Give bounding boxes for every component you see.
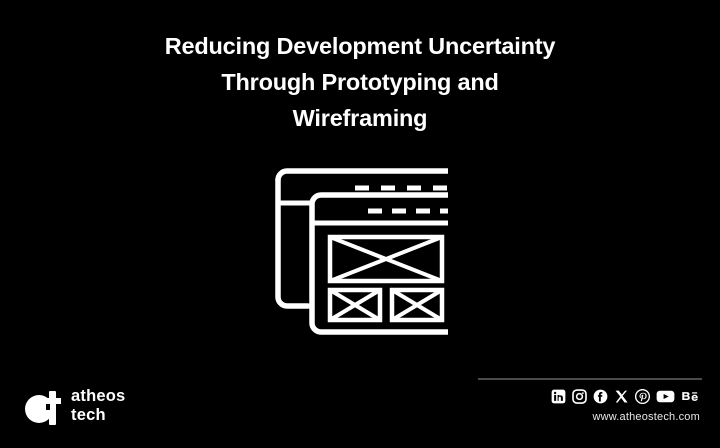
title-line-3: Wireframing: [0, 100, 720, 136]
page-title: Reducing Development Uncertainty Through…: [0, 28, 720, 136]
youtube-icon[interactable]: [656, 389, 675, 404]
pinterest-icon[interactable]: [635, 389, 650, 404]
wireframe-windows-icon: [268, 166, 448, 338]
atheos-mark-icon: [22, 385, 64, 427]
x-twitter-icon[interactable]: [614, 389, 629, 404]
title-line-2: Through Prototyping and: [0, 64, 720, 100]
wordmark-line-2: tech: [71, 406, 125, 425]
slide-canvas: Reducing Development Uncertainty Through…: [0, 0, 720, 448]
atheos-logo-mark: [22, 385, 64, 427]
wireframe-windows-illustration: [268, 166, 448, 338]
footer-divider: [478, 378, 702, 380]
brand-logo: atheos tech: [22, 385, 125, 427]
facebook-icon[interactable]: [593, 389, 608, 404]
website-url[interactable]: www.atheostech.com: [592, 411, 702, 423]
wordmark-line-1: atheos: [71, 387, 125, 406]
title-line-1: Reducing Development Uncertainty: [0, 28, 720, 64]
instagram-icon[interactable]: [572, 389, 587, 404]
linkedin-icon[interactable]: [551, 389, 566, 404]
footer-contact-block: www.atheostech.com: [476, 378, 702, 423]
behance-icon[interactable]: [681, 389, 700, 404]
brand-wordmark: atheos tech: [71, 387, 125, 425]
social-links: [551, 389, 702, 404]
